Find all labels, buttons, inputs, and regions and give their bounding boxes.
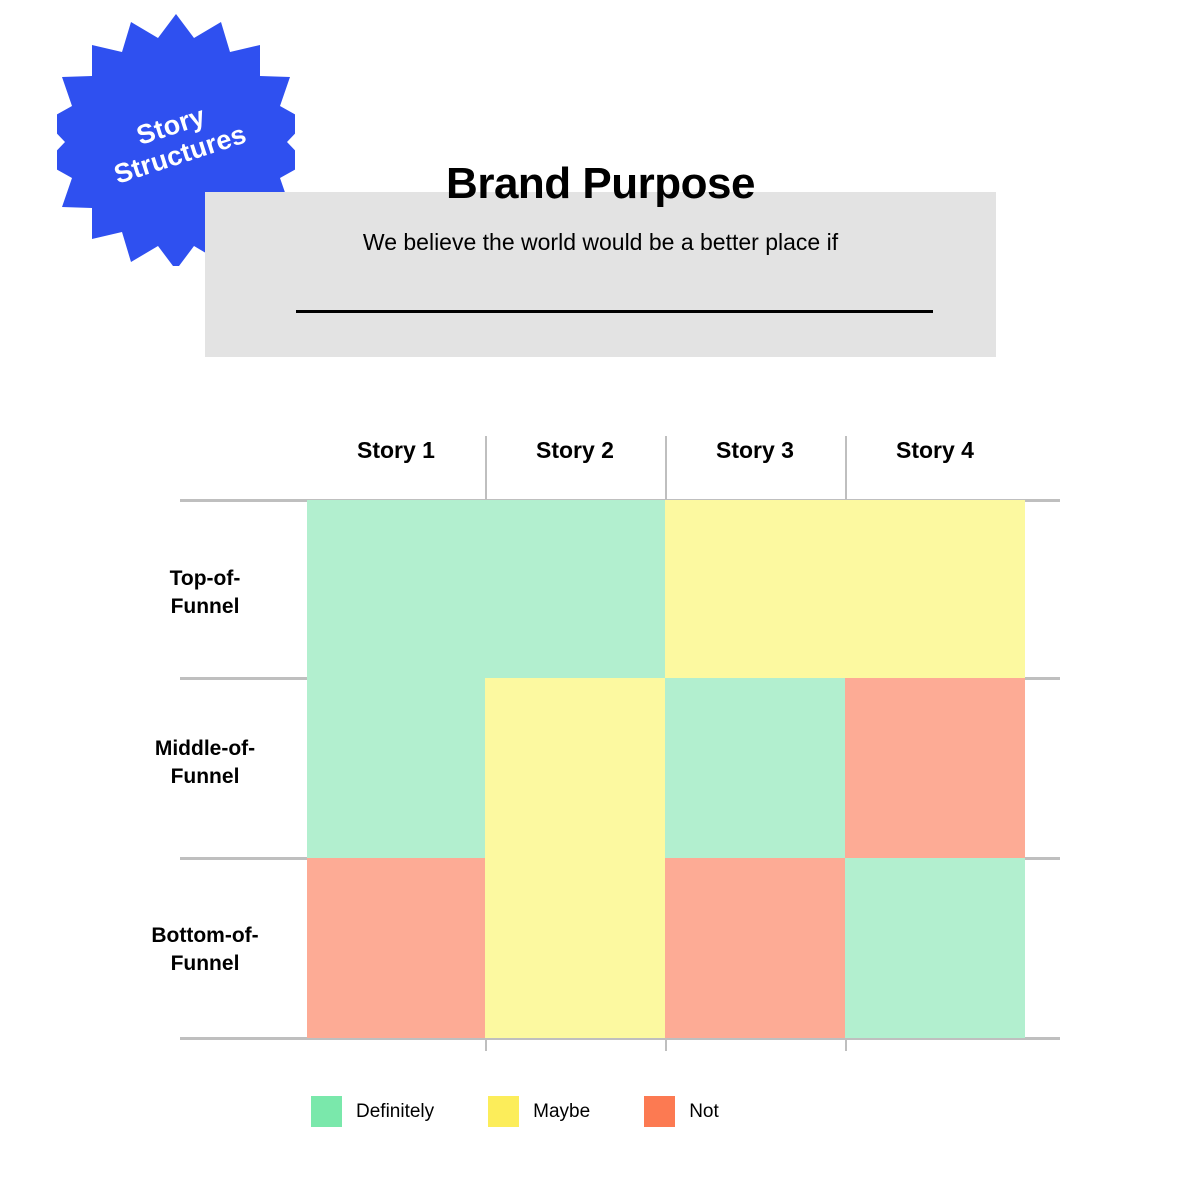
legend: Definitely Maybe Not [311,1096,719,1127]
cell-bottom-of-funnel-story-4[interactable] [845,858,1025,1038]
gridline-vertical-bottom-1 [485,1037,487,1051]
legend-swatch-not [644,1096,675,1127]
gridline-vertical-bottom-2 [665,1037,667,1051]
legend-label-maybe: Maybe [533,1101,590,1123]
row-header-line-2: Funnel [120,763,290,791]
row-header-middle-of-funnel: Middle-of- Funnel [120,735,290,790]
row-header-top-of-funnel: Top-of- Funnel [120,565,290,620]
row-header-bottom-of-funnel: Bottom-of- Funnel [120,922,290,977]
cell-middle-of-funnel-story-4[interactable] [845,678,1025,858]
column-header-story-3: Story 3 [665,437,845,465]
cell-top-of-funnel-story-2[interactable] [485,500,665,678]
cell-middle-of-funnel-story-1[interactable] [307,678,485,858]
row-header-line-1: Bottom-of- [120,922,290,950]
cell-middle-of-funnel-story-3[interactable] [665,678,845,858]
cell-bottom-of-funnel-story-3[interactable] [665,858,845,1038]
gridline-vertical-top-1 [485,436,487,500]
column-header-story-4: Story 4 [845,437,1025,465]
row-header-line-1: Top-of- [120,565,290,593]
story-structures-matrix: Story 1 Story 2 Story 3 Story 4 Top-of- … [0,0,1200,1200]
row-header-line-1: Middle-of- [120,735,290,763]
legend-item-not[interactable]: Not [644,1096,719,1127]
cell-bottom-of-funnel-story-2[interactable] [485,858,665,1038]
legend-label-definitely: Definitely [356,1101,434,1123]
column-header-story-2: Story 2 [485,437,665,465]
column-header-story-1: Story 1 [307,437,485,465]
legend-item-maybe[interactable]: Maybe [488,1096,590,1127]
cell-middle-of-funnel-story-2[interactable] [485,678,665,858]
cell-top-of-funnel-story-1[interactable] [307,500,485,678]
legend-label-not: Not [689,1101,719,1123]
cell-top-of-funnel-story-4[interactable] [845,500,1025,678]
legend-item-definitely[interactable]: Definitely [311,1096,434,1127]
legend-swatch-definitely [311,1096,342,1127]
row-header-line-2: Funnel [120,950,290,978]
gridline-vertical-top-2 [665,436,667,500]
cell-bottom-of-funnel-story-1[interactable] [307,858,485,1038]
gridline-vertical-top-3 [845,436,847,500]
row-header-line-2: Funnel [120,593,290,621]
gridline-vertical-bottom-3 [845,1037,847,1051]
cell-top-of-funnel-story-3[interactable] [665,500,845,678]
legend-swatch-maybe [488,1096,519,1127]
